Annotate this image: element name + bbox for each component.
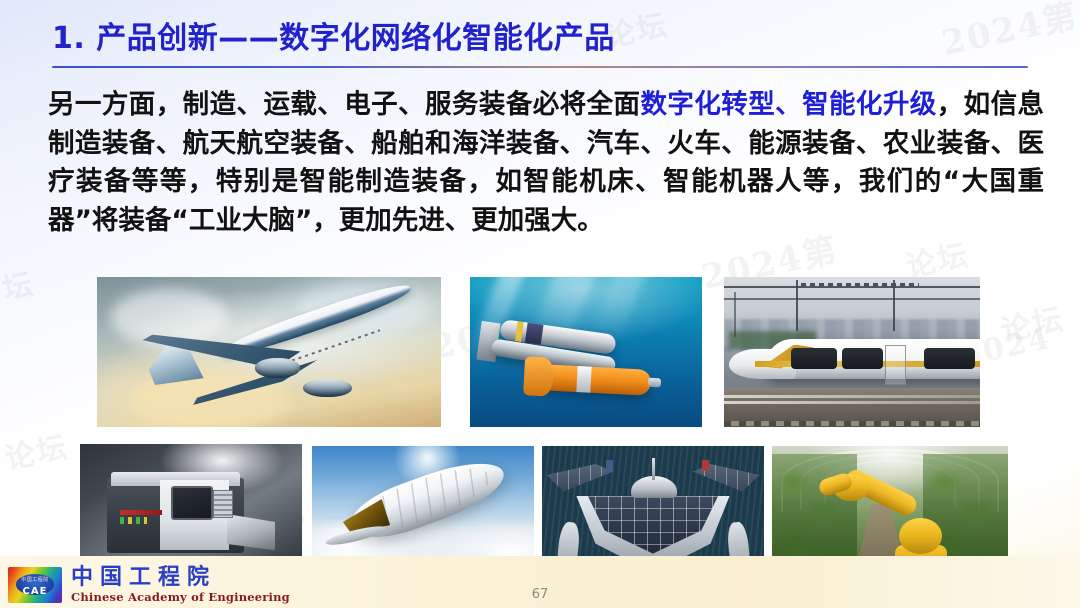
boat-flag — [606, 460, 613, 471]
train-door — [885, 345, 905, 386]
airliner-engine — [303, 379, 351, 397]
title-divider — [52, 66, 1028, 68]
train-window — [791, 348, 837, 369]
rail-line — [724, 395, 980, 398]
catenary-mast — [796, 280, 799, 331]
train-window — [924, 348, 975, 369]
body-paragraph: 另一方面，制造、运载、电子、服务装备必将全面数字化转型、智能化升级，如信息制造装… — [48, 86, 1044, 240]
page-number: 67 — [0, 587, 1080, 602]
body-highlight-run: 数字化转型、智能化升级 — [640, 89, 936, 120]
watermark-text: 论坛 — [996, 294, 1068, 350]
cae-emblem-chinese: 中国工程院 — [8, 576, 62, 583]
watermark-text: 坛 — [0, 259, 38, 309]
page-title: 1. 产品创新——数字化网络化智能化产品 — [52, 22, 1028, 57]
photo-underwater-vehicles — [470, 277, 702, 427]
slide-canvas: 2024第论坛2024第论坛2024第论坛坛论坛2024第2024 1. 产品创… — [0, 0, 1080, 608]
airliner-engine — [255, 358, 300, 378]
photo-airliner — [97, 277, 441, 427]
catenary-mast — [734, 292, 736, 337]
rail-sleepers — [724, 421, 980, 426]
body-text-run: 另一方面，制造、运载、电子、服务装备必将全面 — [48, 89, 640, 120]
watermark-text: 论坛 — [0, 422, 72, 478]
cnc-keypad — [213, 490, 233, 518]
title-block: 1. 产品创新——数字化网络化智能化产品 — [52, 22, 1028, 68]
boat-mast — [652, 458, 656, 480]
cnc-control-screen — [171, 486, 213, 520]
boat-flag — [702, 460, 709, 471]
robot-shoulder-joint — [899, 518, 941, 554]
rail-line — [724, 401, 980, 404]
photo-high-speed-train — [724, 277, 980, 427]
cnc-indicator-buttons — [120, 517, 147, 524]
catenary-wire — [724, 298, 980, 300]
catenary-truss — [801, 283, 919, 287]
rail-bed — [724, 388, 980, 427]
cae-name-chinese: 中国工程院 — [71, 566, 290, 589]
cnc-red-stripe — [120, 510, 162, 516]
catenary-mast — [893, 280, 896, 331]
train-window — [842, 348, 883, 369]
